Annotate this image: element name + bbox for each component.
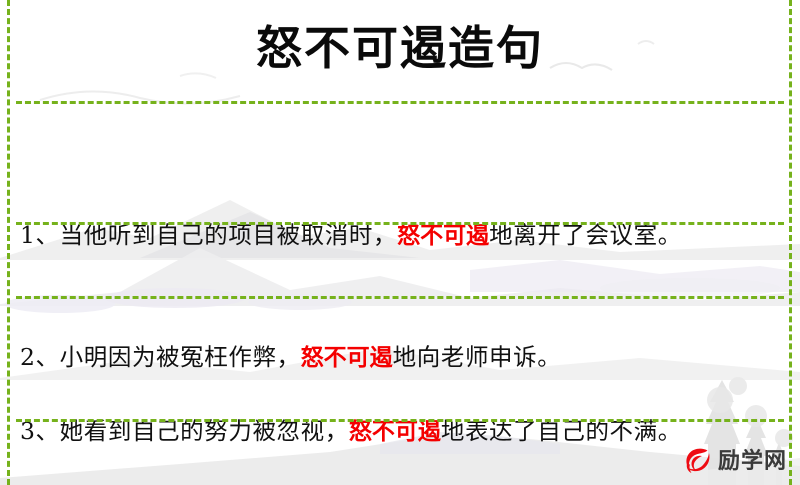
site-logo-text: 励学网 xyxy=(718,451,787,473)
sentence-1-highlight: 怒不可遏 xyxy=(397,223,489,249)
sentence-item-2: 2、小明因为被冤枉作弊，怒不可遏地向老师申诉。 xyxy=(20,336,762,380)
divider-after-sentence-2 xyxy=(16,296,784,299)
sentence-3-highlight: 怒不可遏 xyxy=(349,419,441,445)
worksheet-page: 怒不可遏造句 1、当他听到自己的项目被取消时，怒不可遏地离开了会议室。 2、小明… xyxy=(0,0,800,485)
red-swirl-flame-icon xyxy=(681,446,712,477)
right-dashed-border xyxy=(789,0,792,485)
site-logo[interactable]: 励学网 xyxy=(681,446,787,477)
sentence-1-tail: 地离开了会议室。 xyxy=(489,221,682,249)
divider-below-title xyxy=(16,101,784,104)
sentence-2-highlight: 怒不可遏 xyxy=(301,345,393,371)
divider-after-sentence-3 xyxy=(16,419,784,422)
sentence-item-3: 3、她看到自己的努力被忽视，怒不可遏地表达了自己的不满。 xyxy=(20,410,762,454)
left-dashed-border xyxy=(7,0,10,485)
sentence-2-index: 2、 xyxy=(20,343,60,371)
sentence-item-1: 1、当他听到自己的项目被取消时，怒不可遏地离开了会议室。 xyxy=(20,214,762,258)
content-area: 怒不可遏造句 1、当他听到自己的项目被取消时，怒不可遏地离开了会议室。 2、小明… xyxy=(0,0,800,485)
page-title: 怒不可遏造句 xyxy=(256,25,544,71)
sentence-1-lead: 当他听到自己的项目被取消时， xyxy=(60,221,397,249)
divider-after-sentence-1 xyxy=(16,222,784,225)
sentence-1-index: 1、 xyxy=(20,221,60,249)
sentence-2-lead: 小明因为被冤枉作弊， xyxy=(60,343,301,371)
title-area: 怒不可遏造句 xyxy=(0,0,800,96)
sentence-2-tail: 地向老师申诉。 xyxy=(393,343,562,371)
